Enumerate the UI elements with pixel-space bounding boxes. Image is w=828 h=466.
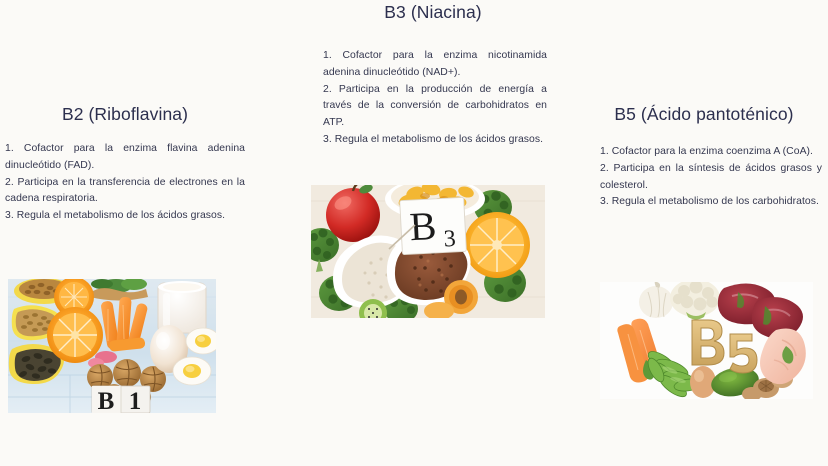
vitamin-b5-body: 1. Cofactor para la enzima coenzima A (C… [600, 144, 822, 211]
vitamin-panel-b5: B5 (Ácido pantoténico) 1. Cofactor para … [580, 104, 828, 211]
vitamin-b2-body: 1. Cofactor para la enzima flavina adeni… [5, 141, 245, 225]
vitamin-b2-title: B2 (Riboflavina) [0, 104, 250, 126]
svg-text:1: 1 [129, 388, 142, 413]
vitamin-b3-body: 1. Cofactor para la enzima nicotinamida … [323, 48, 547, 149]
vitamin-panel-b2: B2 (Riboflavina) 1. Cofactor para la enz… [0, 104, 250, 225]
slide-canvas: B2 (Riboflavina) 1. Cofactor para la enz… [0, 0, 828, 466]
vitamin-b5-title: B5 (Ácido pantoténico) [580, 104, 828, 126]
vitamin-b3-foods-photo: B 3 [311, 185, 545, 318]
svg-text:3: 3 [443, 226, 456, 253]
vitamin-b2-foods-photo: B 1 [8, 279, 216, 413]
vitamin-b5-foods-photo [600, 282, 813, 399]
vitamin-b3-title: B3 (Niacina) [303, 2, 563, 24]
svg-text:B: B [98, 388, 115, 413]
vitamin-panel-b3: B3 (Niacina) 1. Cofactor para la enzima … [303, 0, 563, 149]
